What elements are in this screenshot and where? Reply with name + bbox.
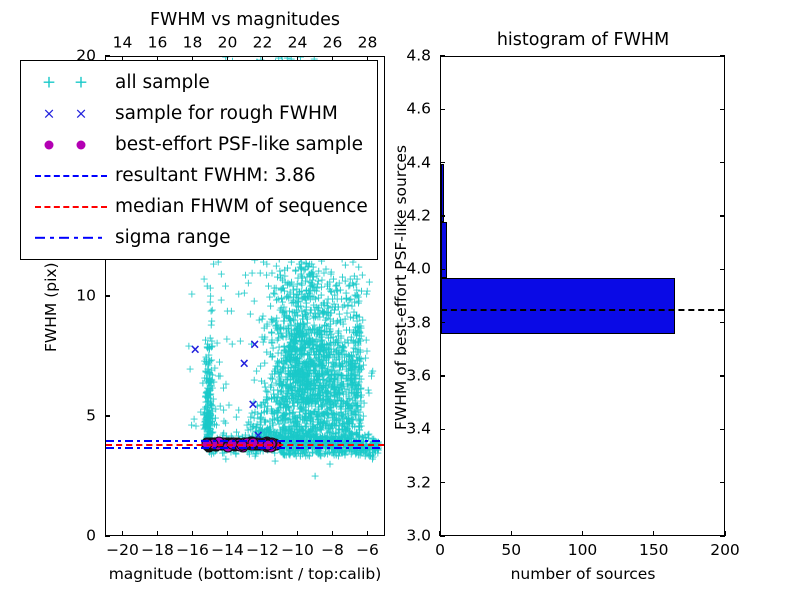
hist-y-tick [440,375,445,376]
scatter-point-plus: + [217,294,226,305]
plus-icon: + [42,74,56,91]
scatter-point-plus: + [306,270,315,281]
scatter-point-cross: × [249,339,260,352]
scatter-point-plus: + [330,304,339,315]
scatter-point-plus: + [255,314,264,325]
legend: ++all sample××sample for rough FWHMbest-… [20,60,378,260]
histogram-bar [441,164,444,223]
dashed-line-icon [35,206,107,208]
scatter-point-plus: + [298,401,307,412]
scatter-point-plus: + [333,374,342,385]
hist-y-tick-right [720,215,725,216]
top-x-tick-label: 20 [218,36,238,52]
x-tick [297,531,298,536]
x-tick-label: −12 [246,543,279,559]
scatter-point-plus: + [315,345,324,356]
scatter-hline-sigma-range [106,447,384,449]
scatter-point-plus: + [359,411,368,422]
scatter-point-plus: + [362,289,371,300]
hist-x-tick-label: 100 [568,543,598,559]
scatter-ylabel: FWHM (pix) [42,262,60,352]
hist-x-tick-label: 0 [435,543,445,559]
y-tick [105,415,110,416]
scatter-point-plus: + [185,363,194,374]
hist-x-tick [511,531,512,536]
scatter-point-plus: + [306,325,315,336]
y-tick [105,55,110,56]
x-tick-label: −8 [321,543,344,559]
scatter-point-plus: + [332,396,341,407]
scatter-point-plus: + [187,288,196,299]
scatter-point-plus: + [314,326,323,337]
legend-item[interactable]: median FHWM of sequence [29,191,367,222]
scatter-point-plus: + [362,334,371,345]
legend-item[interactable]: resultant FWHM: 3.86 [29,160,367,191]
plus-icon: + [74,74,88,91]
scatter-point-plus: + [358,269,367,280]
scatter-point-plus: + [281,401,290,412]
scatter-point-plus: + [246,309,255,320]
y-tick [105,295,110,296]
scatter-point-plus: + [207,320,216,331]
x-tick [122,531,123,536]
hist-y-tick-right [720,55,725,56]
histogram-ylabel: FWHM of best-effort PSF-like sources [392,145,410,430]
scatter-point-plus: + [208,304,217,315]
scatter-point-plus: + [330,410,339,421]
hist-y-tick [440,269,445,270]
x-tick-label: −14 [211,543,244,559]
hist-y-tick [440,535,445,536]
scatter-point-plus: + [307,401,316,412]
hist-y-tick-right [720,322,725,323]
scatter-point-plus: + [281,355,290,366]
scatter-point-plus: + [271,396,280,407]
x-tick-label: −10 [281,543,314,559]
scatter-point-plus: + [367,371,376,382]
hist-y-tick-right [720,375,725,376]
scatter-point-plus: + [196,406,205,417]
top-x-tick-label: 18 [183,36,203,52]
legend-item-label: median FHWM of sequence [115,196,368,217]
scatter-point-plus: + [292,291,301,302]
scatter-point-plus: + [348,395,357,406]
legend-marker-filled-dot-icon [29,134,115,156]
hist-y-tick-label: 4.8 [406,48,431,64]
filled-dot-icon [45,140,54,149]
scatter-point-plus: + [191,420,200,431]
top-x-tick-label: 16 [148,36,168,52]
top-x-tick-label: 22 [253,36,273,52]
hist-y-tick [440,55,445,56]
hist-y-tick-label: 3.8 [406,315,431,331]
scatter-hline-sigma-range [106,440,384,442]
scatter-point-plus: + [358,314,367,325]
legend-item[interactable]: best-effort PSF-like sample [29,129,367,160]
scatter-point-plus: + [311,365,320,376]
hist-y-tick [440,109,445,110]
y-tick-label: 10 [76,288,96,304]
hist-x-tick-label: 150 [639,543,669,559]
legend-marker-dashed-line-icon [29,196,115,218]
hist-y-tick-right [720,429,725,430]
legend-marker-dashdot-line-icon [29,227,115,249]
scatter-point-plus: + [339,411,348,422]
hist-y-tick-right [720,535,725,536]
scatter-point-plus: + [348,355,357,366]
scatter-point-plus: + [311,309,320,320]
legend-marker-cross-x-icon: ×× [29,103,115,125]
scatter-xlabel: magnitude (bottom:isnt / top:calib) [109,565,382,583]
scatter-point-plus: + [310,383,319,394]
top-x-tick-label: 14 [113,36,133,52]
hist-y-tick-label: 3.4 [406,422,431,438]
x-tick-label: −6 [356,543,379,559]
x-tick [227,531,228,536]
x-tick [262,531,263,536]
hist-x-tick [582,531,583,536]
scatter-point-plus: + [250,296,259,307]
hist-y-tick-label: 3.6 [406,368,431,384]
hist-y-tick-right [720,109,725,110]
hist-y-tick-label: 4.0 [406,262,431,278]
legend-item-label: resultant FWHM: 3.86 [115,165,316,186]
figure-canvas: ++++++++++++++++++++++++++++++++++++++++… [0,0,800,600]
legend-item[interactable]: ××sample for rough FWHM [29,98,367,129]
x-tick [192,531,193,536]
hist-y-tick [440,162,445,163]
scatter-point-plus: + [276,379,285,390]
y-tick [105,535,110,536]
hist-y-tick-label: 3.0 [406,528,431,544]
x-tick-label: −16 [176,543,209,559]
scatter-point-plus: + [250,374,259,385]
scatter-point-plus: + [222,333,231,344]
scatter-point-plus: + [215,356,224,367]
top-x-tick-label: 26 [323,36,343,52]
scatter-point-plus: + [293,416,302,427]
scatter-point-plus: + [232,411,241,422]
scatter-point-plus: + [323,383,332,394]
scatter-point-plus: + [221,281,230,292]
scatter-title: FWHM vs magnitudes [150,10,340,30]
y-tick-label: 0 [86,528,96,544]
histogram-xlabel: number of sources [511,565,656,583]
hist-x-tick-label: 200 [710,543,740,559]
scatter-point-plus: + [277,293,286,304]
scatter-point-plus: + [268,351,277,362]
scatter-point-plus: + [285,278,294,289]
scatter-point-plus: + [274,329,283,340]
hist-y-tick [440,322,445,323]
hist-y-tick-label: 3.2 [406,475,431,491]
histogram-plot-area [441,57,724,535]
scatter-point-plus: + [236,335,245,346]
top-x-tick-label: 28 [358,36,378,52]
scatter-point-plus: + [272,260,281,271]
x-tick-label: −20 [106,543,139,559]
scatter-point-plus: + [204,393,213,404]
legend-item-label: all sample [115,72,210,93]
scatter-point-plus: + [241,269,250,280]
scatter-point-plus: + [351,337,360,348]
scatter-point-plus: + [305,340,314,351]
filled-dot-icon [77,140,86,149]
histogram-axes [440,56,725,536]
hist-y-tick [440,482,445,483]
hist-y-tick-right [720,269,725,270]
scatter-point-plus: + [332,349,341,360]
dashed-line-icon [35,175,107,177]
histogram-title: histogram of FWHM [497,30,669,50]
hist-x-tick-label: 50 [501,543,521,559]
scatter-point-plus: + [291,339,300,350]
scatter-point-plus: + [216,401,225,412]
scatter-point-cross: × [190,343,201,356]
scatter-point-plus: + [350,296,359,307]
scatter-point-plus: + [360,398,369,409]
cross-x-icon: × [75,106,88,121]
scatter-point-plus: + [207,341,216,352]
histogram-bar [441,278,675,334]
scatter-point-plus: + [214,371,223,382]
hist-y-tick-right [720,162,725,163]
legend-item[interactable]: ++all sample [29,67,367,98]
scatter-point-plus: + [325,277,334,288]
hist-y-tick [440,215,445,216]
x-tick-label: −18 [141,543,174,559]
legend-item-label: sample for rough FWHM [115,103,338,124]
scatter-point-cross: × [239,358,250,371]
x-tick [157,531,158,536]
hist-y-tick-right [720,482,725,483]
legend-item[interactable]: sigma range [29,222,367,253]
scatter-point-plus: + [311,470,320,481]
scatter-point-plus: + [217,268,226,279]
dashdot-line-icon [35,236,107,238]
legend-item-label: best-effort PSF-like sample [115,134,363,155]
x-tick [367,531,368,536]
scatter-point-plus: + [342,293,351,304]
scatter-point-plus: + [255,414,264,425]
legend-marker-dashed-line-icon [29,165,115,187]
scatter-point-plus: + [319,418,328,429]
hist-y-tick-label: 4.6 [406,102,431,118]
legend-marker-plus-icon: ++ [29,72,115,94]
scatter-point-plus: + [206,291,215,302]
hist-y-tick [440,429,445,430]
hist-x-tick [653,531,654,536]
scatter-point-plus: + [256,361,265,372]
scatter-point-plus: + [304,285,313,296]
cross-x-icon: × [43,106,56,121]
scatter-point-plus: + [326,326,335,337]
scatter-point-plus: + [298,378,307,389]
hist-y-tick-label: 4.2 [406,208,431,224]
legend-item-label: sigma range [115,227,231,248]
scatter-point-plus: + [219,415,228,426]
top-x-tick-label: 24 [288,36,308,52]
scatter-point-plus: + [352,284,361,295]
hist-y-tick-label: 4.4 [406,155,431,171]
scatter-point-plus: + [262,259,271,270]
scatter-point-plus: + [202,375,211,386]
scatter-point-plus: + [227,306,236,317]
scatter-point-cross: × [248,399,259,412]
scatter-point-plus: + [224,399,233,410]
y-tick-label: 5 [86,408,96,424]
scatter-hline-dashed [106,444,384,446]
histogram-resultant-fwhm-line [441,309,724,311]
scatter-point-plus: + [298,310,307,321]
x-tick [332,531,333,536]
scatter-point-plus: + [325,458,334,469]
